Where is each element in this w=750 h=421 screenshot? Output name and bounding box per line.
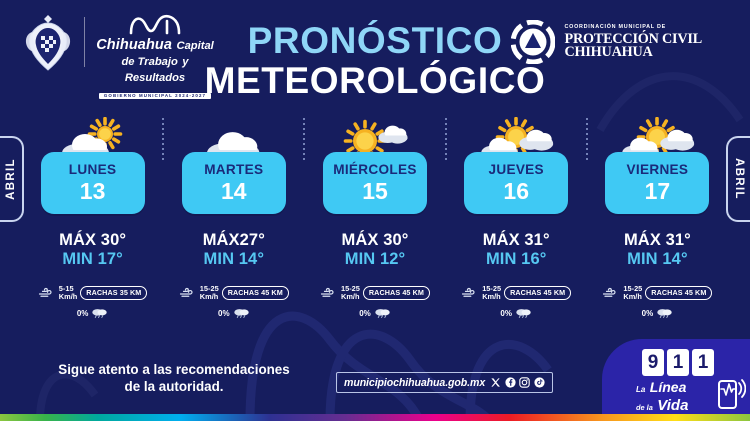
wind-row: 15-25 Km/hRACHAS 45 KM [163, 285, 304, 301]
precipitation-percent: 0% [77, 309, 89, 318]
forecast-day-card: MIÉRCOLES 15MÁX 30° MIN 12° 15-25 Km/hRA… [304, 118, 445, 333]
advisory-note-line1: Sigue atento a las recomendaciones [58, 362, 289, 377]
social-icons [490, 377, 545, 388]
x-twitter-icon[interactable] [490, 377, 501, 388]
max-temperature: MÁX 30° [59, 231, 126, 249]
wind-row: 15-25 Km/hRACHAS 45 KM [587, 285, 728, 301]
website-pill[interactable]: municipiochihuahua.gob.mx [336, 372, 553, 393]
advisory-note: Sigue atento a las recomendaciones de la… [34, 362, 314, 396]
month-tab-left: ABRIL [0, 136, 24, 222]
rainbow-strip [0, 414, 750, 421]
month-tab-right: ABRIL [726, 136, 750, 222]
precipitation-row: 0% [500, 307, 532, 319]
wind-speed-unit: Km/h [623, 292, 641, 301]
facebook-icon[interactable] [505, 377, 516, 388]
precipitation-row: 0% [77, 307, 109, 319]
emergency-number: 911 [642, 349, 714, 376]
max-temperature: MÁX27° [203, 231, 265, 249]
emergency-digit: 9 [642, 349, 664, 376]
rain-cloud-icon [233, 307, 250, 319]
precipitation-percent: 0% [218, 309, 230, 318]
temperature-block: MÁX 31° MIN 16° [483, 231, 550, 269]
forecast-day-card: MARTES 14MÁX27° MIN 14° 15-25 Km/hRACHAS… [163, 118, 304, 333]
temperature-block: MÁX27° MIN 14° [203, 231, 265, 269]
day-name: LUNES [69, 163, 117, 177]
day-label-card[interactable]: VIERNES 17 [605, 152, 709, 214]
slogan-vida: Vida [657, 397, 688, 414]
min-temperature: MIN 12° [342, 250, 409, 268]
page-title: PRONÓSTICO METEOROLÓGICO [0, 22, 750, 99]
precipitation-percent: 0% [359, 309, 371, 318]
forecast-row: LUNES 13MÁX 30° MIN 17° 5-15 Km/hRACHAS … [22, 118, 728, 333]
wind-icon [179, 287, 197, 298]
day-label-card[interactable]: LUNES 13 [41, 152, 145, 214]
temperature-block: MÁX 30° MIN 17° [59, 231, 126, 269]
title-line-2: METEOROLÓGICO [0, 62, 750, 100]
wind-icon [602, 287, 620, 298]
rain-cloud-icon [374, 307, 391, 319]
column-separator [445, 118, 447, 164]
max-temperature: MÁX 31° [483, 231, 550, 249]
rain-cloud-icon [515, 307, 532, 319]
wind-speed: 15-25 Km/h [623, 285, 642, 301]
wind-speed: 15-25 Km/h [482, 285, 501, 301]
day-number: 17 [645, 180, 671, 203]
rain-cloud-icon [656, 307, 673, 319]
month-tab-left-label: ABRIL [5, 158, 17, 200]
column-separator [303, 118, 305, 164]
wind-speed-unit: Km/h [200, 292, 218, 301]
wind-speed: 15-25 Km/h [200, 285, 219, 301]
min-temperature: MIN 14° [203, 250, 265, 268]
precipitation-row: 0% [359, 307, 391, 319]
emergency-digit: 1 [692, 349, 714, 376]
max-temperature: MÁX 30° [342, 231, 409, 249]
wind-gust-badge: RACHAS 45 KM [222, 286, 289, 300]
wind-speed-unit: Km/h [59, 292, 77, 301]
temperature-block: MÁX 31° MIN 14° [624, 231, 691, 269]
forecast-day-card: JUEVES 16MÁX 31° MIN 16° 15-25 Km/hRACHA… [446, 118, 587, 333]
wind-speed-unit: Km/h [341, 292, 359, 301]
month-tab-right-label: ABRIL [733, 158, 745, 200]
wind-row: 5-15 Km/hRACHAS 35 KM [22, 285, 163, 301]
wind-gust-badge: RACHAS 45 KM [504, 286, 571, 300]
wind-speed: 15-25 Km/h [341, 285, 360, 301]
header: Chihuahua Capital de Trabajo y Resultado… [0, 0, 750, 112]
instagram-icon[interactable] [519, 377, 530, 388]
wind-icon [320, 287, 338, 298]
precipitation-percent: 0% [642, 309, 654, 318]
precipitation-percent: 0% [500, 309, 512, 318]
day-name: JUEVES [488, 163, 543, 177]
day-label-card[interactable]: MARTES 14 [182, 152, 286, 214]
rain-cloud-icon [91, 307, 108, 319]
slogan-dela: de la [636, 403, 653, 412]
day-name: MIÉRCOLES [333, 163, 417, 177]
day-number: 16 [503, 180, 529, 203]
column-separator [162, 118, 164, 164]
slogan-la: La [636, 385, 645, 394]
wind-icon [461, 287, 479, 298]
wind-gust-badge: RACHAS 45 KM [645, 286, 712, 300]
website-url[interactable]: municipiochihuahua.gob.mx [344, 377, 485, 389]
day-number: 14 [221, 180, 247, 203]
infographic-canvas: Chihuahua Capital de Trabajo y Resultado… [0, 0, 750, 421]
forecast-day-card: VIERNES 17MÁX 31° MIN 14° 15-25 Km/hRACH… [587, 118, 728, 333]
temperature-block: MÁX 30° MIN 12° [342, 231, 409, 269]
title-line-1: PRONÓSTICO [0, 22, 750, 60]
precipitation-row: 0% [218, 307, 250, 319]
precipitation-row: 0% [642, 307, 674, 319]
wind-speed-unit: Km/h [482, 292, 500, 301]
min-temperature: MIN 16° [483, 250, 550, 268]
emergency-911-badge: 911 La Línea de la Vida [594, 333, 750, 421]
day-label-card[interactable]: MIÉRCOLES 15 [323, 152, 427, 214]
wind-icon [38, 287, 56, 298]
day-name: MARTES [204, 163, 263, 177]
wind-row: 15-25 Km/hRACHAS 45 KM [304, 285, 445, 301]
day-number: 15 [362, 180, 388, 203]
slogan-linea: Línea [650, 379, 687, 395]
min-temperature: MIN 17° [59, 250, 126, 268]
emergency-digit: 1 [667, 349, 689, 376]
day-number: 13 [80, 180, 106, 203]
wind-row: 15-25 Km/hRACHAS 45 KM [446, 285, 587, 301]
day-name: VIERNES [627, 163, 689, 177]
wind-gust-badge: RACHAS 35 KM [80, 286, 147, 300]
day-label-card[interactable]: JUEVES 16 [464, 152, 568, 214]
max-temperature: MÁX 31° [624, 231, 691, 249]
tiktok-icon[interactable] [534, 377, 545, 388]
mobile-phone-pulse-icon [716, 377, 746, 411]
advisory-note-line2: de la autoridad. [125, 379, 224, 394]
wind-speed: 5-15 Km/h [59, 285, 77, 301]
forecast-day-card: LUNES 13MÁX 30° MIN 17° 5-15 Km/hRACHAS … [22, 118, 163, 333]
min-temperature: MIN 14° [624, 250, 691, 268]
column-separator [586, 118, 588, 164]
wind-gust-badge: RACHAS 45 KM [363, 286, 430, 300]
